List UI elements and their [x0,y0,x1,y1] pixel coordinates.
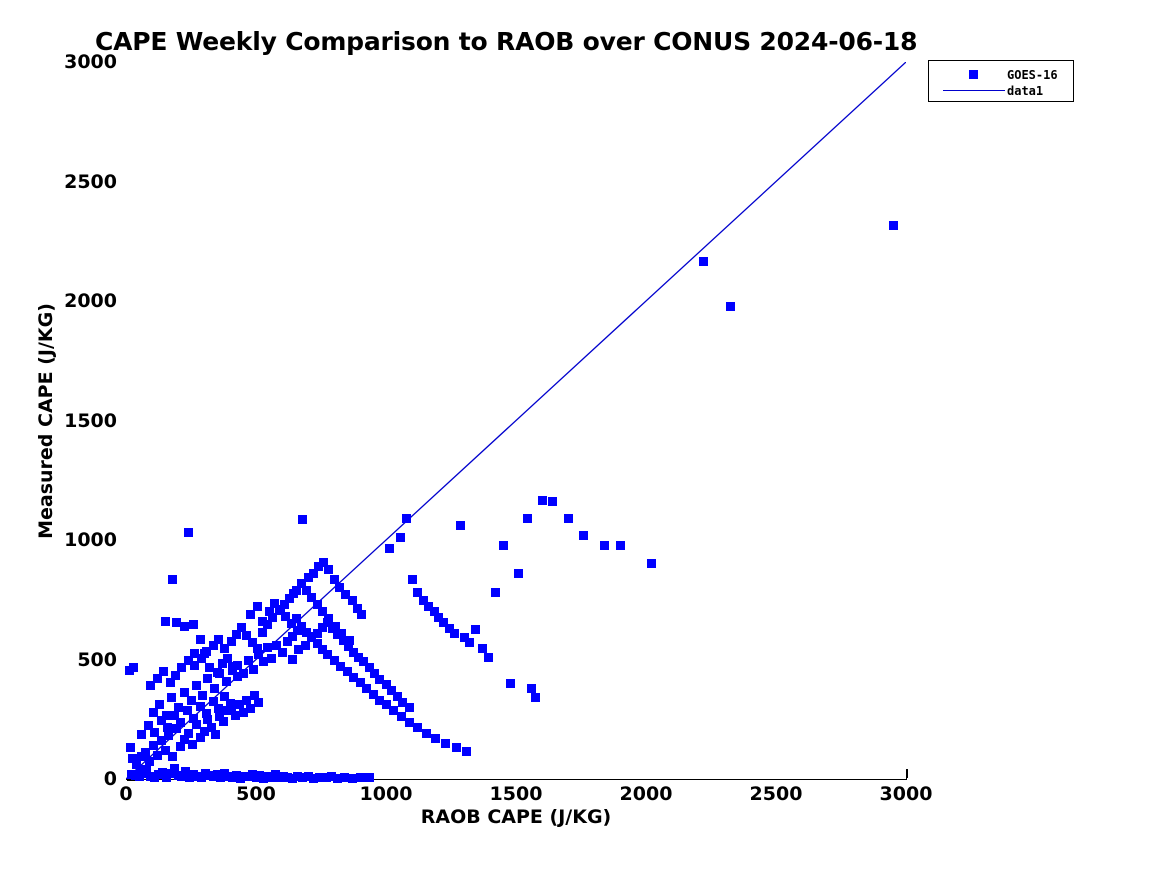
scatter-point [564,514,573,523]
scatter-point [523,514,532,523]
scatter-point [226,699,235,708]
scatter-point [239,669,248,678]
scatter-point [126,743,135,752]
x-tick-label: 1000 [360,783,413,805]
scatter-point [203,674,212,683]
scatter-point [187,696,196,705]
y-tick-label: 2500 [64,171,117,193]
legend-marker-goes16 [969,70,978,79]
scatter-point [726,302,735,311]
scatter-point [405,703,414,712]
scatter-point [324,565,333,574]
scatter-point [538,496,547,505]
scatter-point [456,521,465,530]
scatter-point [889,221,898,230]
x-tick-label: 1500 [490,783,543,805]
legend-line-data1 [943,90,1005,91]
scatter-point [548,497,557,506]
scatter-point [202,709,211,718]
x-tick [906,769,908,778]
scatter-point [254,698,263,707]
scatter-point [184,528,193,537]
x-axis-label: RAOB CAPE (J/KG) [421,806,611,828]
scatter-point [213,668,222,677]
scatter-point [365,773,374,782]
scatter-point [253,602,262,611]
scatter-point [267,654,276,663]
plot-area [126,62,906,779]
chart-figure: CAPE Weekly Comparison to RAOB over CONU… [0,0,1167,875]
scatter-point [452,743,461,752]
scatter-point [484,653,493,662]
scatter-point [161,617,170,626]
scatter-point [189,620,198,629]
scatter-point [385,544,394,553]
scatter-point [168,752,177,761]
scatter-point [357,610,366,619]
scatter-point [176,718,185,727]
scatter-point [253,644,262,653]
y-tick-label: 0 [104,768,117,790]
x-tick-label: 2000 [620,783,673,805]
scatter-point [129,663,138,672]
scatter-point [167,693,176,702]
scatter-point [402,514,411,523]
x-tick-label: 500 [236,783,276,805]
scatter-point [600,541,609,550]
scatter-point [249,665,258,674]
scatter-point [211,730,220,739]
x-tick-label: 0 [119,783,132,805]
scatter-point [616,541,625,550]
scatter-point [214,635,223,644]
scatter-point [396,533,405,542]
scatter-point [531,693,540,702]
scatter-point [471,625,480,634]
y-tick-label: 500 [77,649,117,671]
scatter-point [491,588,500,597]
scatter-point [184,729,193,738]
scatter-point [198,691,207,700]
y-tick-label: 3000 [64,51,117,73]
y-tick-label: 1500 [64,410,117,432]
scatter-point [214,704,223,713]
scatter-point [192,681,201,690]
scatter-point [465,638,474,647]
scatter-point [219,717,228,726]
scatter-point [168,575,177,584]
y-tick-label: 1000 [64,529,117,551]
scatter-point [506,679,515,688]
scatter-point [527,684,536,693]
legend-label-goes16: GOES-16 [1007,68,1058,82]
scatter-point [223,654,232,663]
scatter-point [431,734,440,743]
scatter-point [196,635,205,644]
scatter-point [150,728,159,737]
scatter-point [210,684,219,693]
scatter-point [579,531,588,540]
x-tick-label: 3000 [880,783,933,805]
scatter-point [137,730,146,739]
scatter-point [159,667,168,676]
y-tick-label: 2000 [64,290,117,312]
scatter-point [499,541,508,550]
scatter-point [699,257,708,266]
scatter-point [462,747,471,756]
scatter-point [263,643,272,652]
scatter-point [647,559,656,568]
y-axis-label: Measured CAPE (J/KG) [35,303,57,539]
scatter-point [189,714,198,723]
scatter-point [345,636,354,645]
scatter-point [278,648,287,657]
scatter-point [180,622,189,631]
scatter-point [413,723,422,732]
scatter-point [285,594,294,603]
scatter-point [450,629,459,638]
x-tick-label: 2500 [750,783,803,805]
scatter-point [155,700,164,709]
legend-label-data1: data1 [1007,84,1043,98]
chart-legend[interactable]: GOES-16 data1 [928,60,1074,102]
scatter-point [298,515,307,524]
scatter-point [408,575,417,584]
scatter-point [422,729,431,738]
scatter-point [441,739,450,748]
page-title: CAPE Weekly Comparison to RAOB over CONU… [95,27,917,56]
scatter-point [222,677,231,686]
scatter-point [288,655,297,664]
scatter-point [356,773,365,782]
scatter-point [163,723,172,732]
scatter-point [514,569,523,578]
